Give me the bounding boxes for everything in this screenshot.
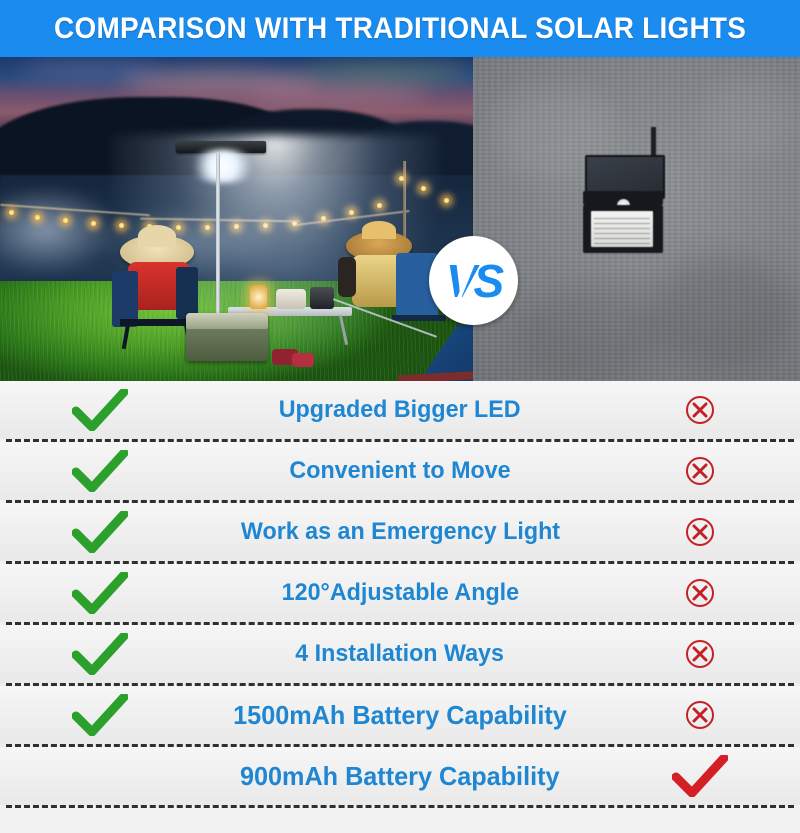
row-left-mark <box>0 450 200 492</box>
row-label-cell: 120°Adjustable Angle <box>200 579 600 607</box>
feature-label: Convenient to Move <box>289 457 510 485</box>
table-row: Work as an Emergency Light <box>0 503 800 561</box>
feature-label: Work as an Emergency Light <box>240 518 559 546</box>
row-separator <box>6 805 794 808</box>
row-label-cell: 900mAh Battery Capability <box>200 761 600 792</box>
comparison-infographic: COMPARISON WITH TRADITIONAL SOLAR LIGHTS <box>0 0 800 800</box>
table-row: 900mAh Battery Capability <box>0 747 800 805</box>
check-icon <box>72 572 128 614</box>
comparison-rows: Upgraded Bigger LED Convenient to Move <box>0 381 800 800</box>
vs-badge: VS <box>429 236 518 325</box>
row-right-mark <box>600 394 800 426</box>
x-circle-icon <box>684 455 716 487</box>
x-circle-icon <box>684 516 716 548</box>
table-row: 4 Installation Ways <box>0 625 800 683</box>
feature-label: 120°Adjustable Angle <box>281 579 518 607</box>
header-banner: COMPARISON WITH TRADITIONAL SOLAR LIGHTS <box>0 0 800 57</box>
row-right-mark <box>600 638 800 670</box>
table-row: Convenient to Move <box>0 442 800 500</box>
row-label-cell: 1500mAh Battery Capability <box>200 700 600 731</box>
check-icon <box>72 694 128 736</box>
row-left-mark <box>0 511 200 553</box>
camping-scene-photo <box>0 57 473 381</box>
page-title: COMPARISON WITH TRADITIONAL SOLAR LIGHTS <box>54 12 746 46</box>
feature-label: Upgraded Bigger LED <box>279 396 521 424</box>
feature-label: 4 Installation Ways <box>296 640 505 668</box>
row-label-cell: Convenient to Move <box>200 457 600 485</box>
check-icon <box>672 755 728 797</box>
x-circle-icon <box>684 394 716 426</box>
row-right-mark <box>600 699 800 731</box>
row-right-mark <box>600 516 800 548</box>
row-right-mark <box>600 755 800 797</box>
feature-label: 1500mAh Battery Capability <box>233 700 567 731</box>
table-row: Upgraded Bigger LED <box>0 381 800 439</box>
photo-strip: VS <box>0 57 800 381</box>
row-label-cell: Upgraded Bigger LED <box>200 396 600 424</box>
row-left-mark <box>0 633 200 675</box>
row-label-cell: 4 Installation Ways <box>200 640 600 668</box>
x-circle-icon <box>684 699 716 731</box>
x-circle-icon <box>684 638 716 670</box>
row-label-cell: Work as an Emergency Light <box>200 518 600 546</box>
check-icon <box>72 389 128 431</box>
check-icon <box>72 511 128 553</box>
row-left-mark <box>0 694 200 736</box>
check-icon <box>72 450 128 492</box>
bottom-spacer <box>0 808 800 833</box>
traditional-light-photo <box>473 57 800 381</box>
traditional-solar-light <box>581 127 671 257</box>
row-left-mark <box>0 389 200 431</box>
row-right-mark <box>600 455 800 487</box>
table-row: 120°Adjustable Angle <box>0 564 800 622</box>
table-row: 1500mAh Battery Capability <box>0 686 800 744</box>
row-left-mark <box>0 572 200 614</box>
check-icon <box>72 633 128 675</box>
row-right-mark <box>600 577 800 609</box>
x-circle-icon <box>684 577 716 609</box>
feature-label: 900mAh Battery Capability <box>240 761 560 792</box>
